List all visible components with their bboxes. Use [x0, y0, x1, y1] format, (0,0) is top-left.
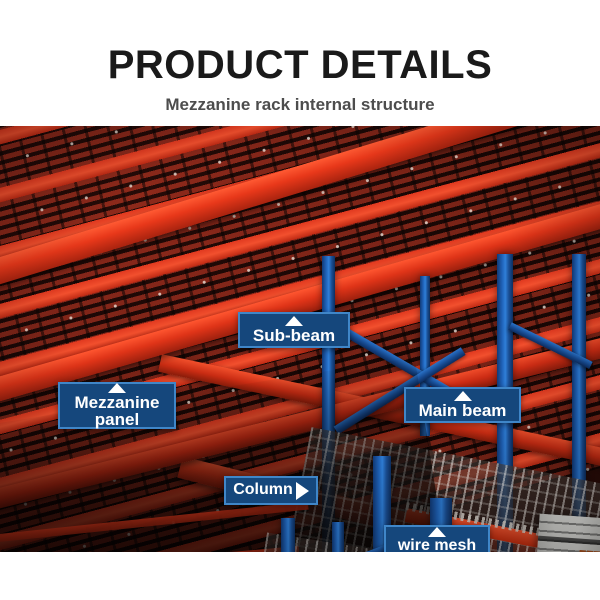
column-upright	[281, 518, 295, 552]
callout-label: Column	[233, 482, 293, 498]
arrow-up-icon	[454, 391, 472, 401]
page-title: PRODUCT DETAILS	[0, 45, 600, 85]
callout-main-beam[interactable]: Main beam	[404, 387, 521, 423]
callout-sub-beam[interactable]: Sub-beam	[238, 312, 350, 348]
arrow-up-icon	[108, 383, 126, 393]
header: PRODUCT DETAILS Mezzanine rack internal …	[0, 0, 600, 126]
callout-mezzanine-panel[interactable]: Mezzanine panel	[58, 382, 176, 429]
callout-label: Sub-beam	[253, 327, 335, 344]
callout-label: Mezzanine panel	[74, 394, 159, 429]
callout-wire-mesh-decking[interactable]: wire mesh decking	[384, 525, 490, 552]
callout-column[interactable]: Column	[224, 476, 318, 505]
page-subtitle: Mezzanine rack internal structure	[0, 95, 600, 115]
callout-label: Main beam	[419, 402, 507, 419]
storage-crate: ███ ███	[528, 514, 600, 552]
product-details-page: PRODUCT DETAILS Mezzanine rack internal …	[0, 0, 600, 600]
crate-band	[538, 536, 600, 546]
arrow-up-icon	[428, 527, 446, 537]
column-upright	[332, 522, 344, 552]
crate-marking: ███	[579, 551, 600, 552]
arrow-right-icon	[296, 482, 309, 500]
callout-label: wire mesh decking	[398, 538, 476, 552]
arrow-up-icon	[285, 316, 303, 326]
product-photo: ███ ███ Sub-beam Mezzanine panel Main be…	[0, 126, 600, 552]
